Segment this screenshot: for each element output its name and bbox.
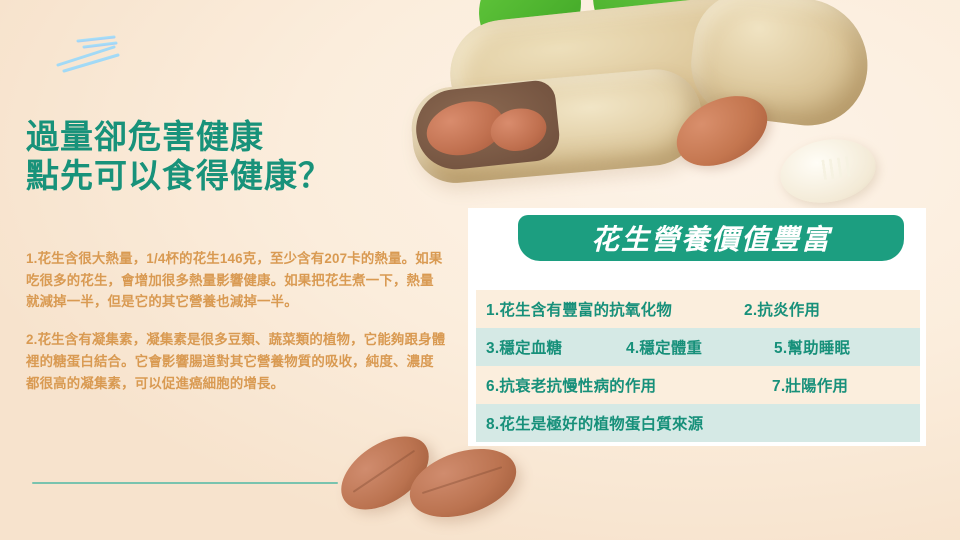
headline-line-1: 過量卻危害健康	[26, 118, 426, 157]
benefit-row[interactable]: 8.花生是極好的植物蛋白質來源	[476, 404, 920, 442]
nutrition-card-banner: 花生營養價值豐富	[518, 215, 904, 261]
benefit-item: 3.穩定血糖	[486, 336, 626, 358]
benefit-item: 4.穩定體重	[626, 336, 774, 358]
benefit-row[interactable]: 3.穩定血糖 4.穩定體重 5.幫助睡眠	[476, 328, 920, 366]
nutrition-card-title: 花生營養價值豐富	[591, 218, 831, 258]
body-copy: 1.花生含很大熱量，1/4杯的花生146克，至少含有207卡的熱量。如果吃很多的…	[26, 248, 446, 394]
benefit-item: 6.抗衰老抗慢性病的作用	[486, 374, 772, 396]
benefit-item: 8.花生是極好的植物蛋白質來源	[486, 412, 703, 434]
poster-canvas: 過量卻危害健康 點先可以食得健康？ 1.花生含很大熱量，1/4杯的花生146克，…	[0, 0, 960, 540]
peanut-photo	[392, 0, 862, 232]
benefit-row[interactable]: 1.花生含有豐富的抗氧化物 2.抗炎作用	[476, 290, 920, 328]
benefit-item: 1.花生含有豐富的抗氧化物	[486, 298, 744, 320]
headline-line-2: 點先可以食得健康？	[26, 157, 426, 196]
benefit-item: 5.幫助睡眠	[774, 336, 850, 358]
section-divider	[32, 482, 338, 484]
body-paragraph-1: 1.花生含很大熱量，1/4杯的花生146克，至少含有207卡的熱量。如果吃很多的…	[26, 248, 446, 313]
brand-logo-icon	[44, 31, 194, 79]
page-title: 過量卻危害健康 點先可以食得健康？	[26, 118, 426, 195]
benefit-row[interactable]: 6.抗衰老抗慢性病的作用 7.壯陽作用	[476, 366, 920, 404]
brand-logo[interactable]	[44, 31, 194, 79]
body-paragraph-2: 2.花生含有凝集素，凝集素是很多豆類、蔬菜類的植物，它能夠跟身體裡的糖蛋白結合。…	[26, 329, 446, 394]
benefit-item: 7.壯陽作用	[772, 374, 848, 396]
nutrition-benefit-list: 1.花生含有豐富的抗氧化物 2.抗炎作用 3.穩定血糖 4.穩定體重 5.幫助睡…	[476, 290, 920, 442]
benefit-item: 2.抗炎作用	[744, 298, 820, 320]
